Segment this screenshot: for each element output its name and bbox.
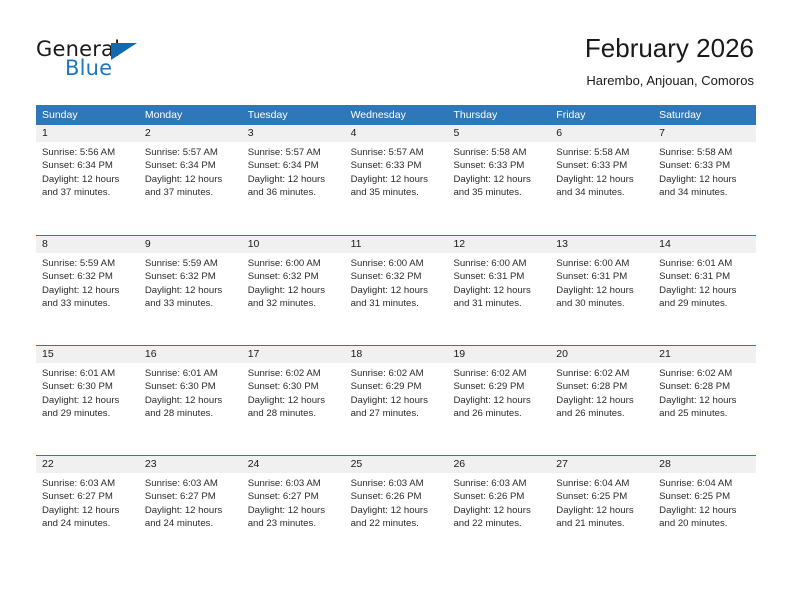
day-number: 15 [36,346,139,363]
week-row: 1 Sunrise: 5:56 AM Sunset: 6:34 PM Dayli… [36,125,756,235]
sunset-text: Sunset: 6:32 PM [351,270,442,283]
day-info: Sunrise: 6:04 AM Sunset: 6:25 PM Dayligh… [550,473,653,531]
day-number: 5 [447,125,550,142]
day-number: 2 [139,125,242,142]
sunrise-text: Sunrise: 6:02 AM [351,367,442,380]
day-number: 24 [242,456,345,473]
daylight-text: Daylight: 12 hours and 37 minutes. [42,173,133,200]
day-cell[interactable]: 3 Sunrise: 5:57 AM Sunset: 6:34 PM Dayli… [242,125,345,235]
day-info: Sunrise: 5:58 AM Sunset: 6:33 PM Dayligh… [653,142,756,200]
day-number: 22 [36,456,139,473]
day-info: Sunrise: 6:03 AM Sunset: 6:27 PM Dayligh… [139,473,242,531]
day-cell[interactable]: 7 Sunrise: 5:58 AM Sunset: 6:33 PM Dayli… [653,125,756,235]
sunrise-text: Sunrise: 6:04 AM [659,477,750,490]
week-row: 8 Sunrise: 5:59 AM Sunset: 6:32 PM Dayli… [36,235,756,345]
sunset-text: Sunset: 6:34 PM [145,159,236,172]
day-info: Sunrise: 6:02 AM Sunset: 6:28 PM Dayligh… [550,363,653,421]
daylight-text: Daylight: 12 hours and 24 minutes. [42,504,133,531]
sunrise-text: Sunrise: 6:02 AM [248,367,339,380]
weekday-header-monday: Monday [139,105,242,125]
day-number: 19 [447,346,550,363]
day-number: 18 [345,346,448,363]
day-info: Sunrise: 6:03 AM Sunset: 6:27 PM Dayligh… [242,473,345,531]
weekday-header-saturday: Saturday [653,105,756,125]
daylight-text: Daylight: 12 hours and 29 minutes. [42,394,133,421]
day-cell[interactable]: 6 Sunrise: 5:58 AM Sunset: 6:33 PM Dayli… [550,125,653,235]
sunrise-text: Sunrise: 6:02 AM [556,367,647,380]
daylight-text: Daylight: 12 hours and 36 minutes. [248,173,339,200]
sunset-text: Sunset: 6:33 PM [659,159,750,172]
day-number: 11 [345,236,448,253]
day-cell[interactable]: 5 Sunrise: 5:58 AM Sunset: 6:33 PM Dayli… [447,125,550,235]
sunrise-text: Sunrise: 6:02 AM [659,367,750,380]
day-cell[interactable]: 19 Sunrise: 6:02 AM Sunset: 6:29 PM Dayl… [447,346,550,455]
day-cell[interactable]: 23 Sunrise: 6:03 AM Sunset: 6:27 PM Dayl… [139,456,242,565]
day-info: Sunrise: 6:01 AM Sunset: 6:30 PM Dayligh… [139,363,242,421]
daylight-text: Daylight: 12 hours and 34 minutes. [556,173,647,200]
daylight-text: Daylight: 12 hours and 23 minutes. [248,504,339,531]
day-cell[interactable]: 13 Sunrise: 6:00 AM Sunset: 6:31 PM Dayl… [550,236,653,345]
day-cell[interactable]: 11 Sunrise: 6:00 AM Sunset: 6:32 PM Dayl… [345,236,448,345]
day-info: Sunrise: 6:00 AM Sunset: 6:31 PM Dayligh… [447,253,550,311]
day-info: Sunrise: 6:03 AM Sunset: 6:27 PM Dayligh… [36,473,139,531]
day-info: Sunrise: 5:57 AM Sunset: 6:33 PM Dayligh… [345,142,448,200]
sunrise-text: Sunrise: 6:00 AM [556,257,647,270]
daylight-text: Daylight: 12 hours and 33 minutes. [42,284,133,311]
sunset-text: Sunset: 6:31 PM [453,270,544,283]
day-info: Sunrise: 6:03 AM Sunset: 6:26 PM Dayligh… [345,473,448,531]
daylight-text: Daylight: 12 hours and 27 minutes. [351,394,442,421]
day-info: Sunrise: 6:01 AM Sunset: 6:30 PM Dayligh… [36,363,139,421]
day-info: Sunrise: 6:02 AM Sunset: 6:28 PM Dayligh… [653,363,756,421]
day-number: 3 [242,125,345,142]
day-info: Sunrise: 6:00 AM Sunset: 6:31 PM Dayligh… [550,253,653,311]
sunrise-text: Sunrise: 6:01 AM [659,257,750,270]
day-info: Sunrise: 5:59 AM Sunset: 6:32 PM Dayligh… [36,253,139,311]
sunset-text: Sunset: 6:32 PM [248,270,339,283]
day-cell[interactable]: 9 Sunrise: 5:59 AM Sunset: 6:32 PM Dayli… [139,236,242,345]
sunrise-text: Sunrise: 5:57 AM [248,146,339,159]
sunset-text: Sunset: 6:29 PM [453,380,544,393]
day-info: Sunrise: 6:00 AM Sunset: 6:32 PM Dayligh… [345,253,448,311]
page-header: General Blue February 2026 Harembo, Anjo… [0,0,792,104]
daylight-text: Daylight: 12 hours and 22 minutes. [351,504,442,531]
sunset-text: Sunset: 6:27 PM [145,490,236,503]
sunrise-text: Sunrise: 6:03 AM [351,477,442,490]
sunrise-text: Sunrise: 6:01 AM [145,367,236,380]
day-cell[interactable]: 27 Sunrise: 6:04 AM Sunset: 6:25 PM Dayl… [550,456,653,565]
day-number: 4 [345,125,448,142]
week-row: 15 Sunrise: 6:01 AM Sunset: 6:30 PM Dayl… [36,345,756,455]
daylight-text: Daylight: 12 hours and 26 minutes. [556,394,647,421]
brand-triangle-icon [111,43,137,60]
sunset-text: Sunset: 6:32 PM [42,270,133,283]
sunset-text: Sunset: 6:33 PM [556,159,647,172]
day-number: 28 [653,456,756,473]
day-info: Sunrise: 6:01 AM Sunset: 6:31 PM Dayligh… [653,253,756,311]
day-info: Sunrise: 6:04 AM Sunset: 6:25 PM Dayligh… [653,473,756,531]
sunrise-text: Sunrise: 6:02 AM [453,367,544,380]
sunset-text: Sunset: 6:25 PM [556,490,647,503]
day-number: 12 [447,236,550,253]
day-number: 1 [36,125,139,142]
weekday-header-tuesday: Tuesday [242,105,345,125]
sunset-text: Sunset: 6:34 PM [248,159,339,172]
daylight-text: Daylight: 12 hours and 35 minutes. [453,173,544,200]
day-number: 27 [550,456,653,473]
day-info: Sunrise: 5:57 AM Sunset: 6:34 PM Dayligh… [242,142,345,200]
daylight-text: Daylight: 12 hours and 24 minutes. [145,504,236,531]
sunrise-text: Sunrise: 5:57 AM [145,146,236,159]
daylight-text: Daylight: 12 hours and 35 minutes. [351,173,442,200]
daylight-text: Daylight: 12 hours and 20 minutes. [659,504,750,531]
sunrise-text: Sunrise: 5:58 AM [556,146,647,159]
day-cell[interactable]: 20 Sunrise: 6:02 AM Sunset: 6:28 PM Dayl… [550,346,653,455]
day-cell[interactable]: 10 Sunrise: 6:00 AM Sunset: 6:32 PM Dayl… [242,236,345,345]
sunrise-text: Sunrise: 5:58 AM [659,146,750,159]
day-cell[interactable]: 17 Sunrise: 6:02 AM Sunset: 6:30 PM Dayl… [242,346,345,455]
day-cell[interactable]: 4 Sunrise: 5:57 AM Sunset: 6:33 PM Dayli… [345,125,448,235]
day-info: Sunrise: 5:57 AM Sunset: 6:34 PM Dayligh… [139,142,242,200]
day-cell[interactable]: 14 Sunrise: 6:01 AM Sunset: 6:31 PM Dayl… [653,236,756,345]
sunrise-text: Sunrise: 5:56 AM [42,146,133,159]
daylight-text: Daylight: 12 hours and 28 minutes. [145,394,236,421]
weekday-header-friday: Friday [550,105,653,125]
sunrise-text: Sunrise: 5:58 AM [453,146,544,159]
sunrise-text: Sunrise: 6:03 AM [42,477,133,490]
day-cell[interactable]: 16 Sunrise: 6:01 AM Sunset: 6:30 PM Dayl… [139,346,242,455]
sunrise-text: Sunrise: 6:00 AM [453,257,544,270]
weekday-header-sunday: Sunday [36,105,139,125]
day-cell[interactable]: 25 Sunrise: 6:03 AM Sunset: 6:26 PM Dayl… [345,456,448,565]
day-number: 17 [242,346,345,363]
sunrise-text: Sunrise: 6:03 AM [145,477,236,490]
day-cell[interactable]: 24 Sunrise: 6:03 AM Sunset: 6:27 PM Dayl… [242,456,345,565]
day-number: 16 [139,346,242,363]
day-cell[interactable]: 8 Sunrise: 5:59 AM Sunset: 6:32 PM Dayli… [36,236,139,345]
day-number: 23 [139,456,242,473]
day-number: 13 [550,236,653,253]
sunset-text: Sunset: 6:26 PM [453,490,544,503]
day-number: 21 [653,346,756,363]
title-block: February 2026 Harembo, Anjouan, Comoros [585,32,754,90]
sunset-text: Sunset: 6:30 PM [248,380,339,393]
day-cell[interactable]: 22 Sunrise: 6:03 AM Sunset: 6:27 PM Dayl… [36,456,139,565]
sunrise-text: Sunrise: 6:00 AM [248,257,339,270]
sunset-text: Sunset: 6:29 PM [351,380,442,393]
page-title: February 2026 [585,32,754,64]
day-cell[interactable]: 1 Sunrise: 5:56 AM Sunset: 6:34 PM Dayli… [36,125,139,235]
sunset-text: Sunset: 6:33 PM [453,159,544,172]
daylight-text: Daylight: 12 hours and 28 minutes. [248,394,339,421]
daylight-text: Daylight: 12 hours and 21 minutes. [556,504,647,531]
day-info: Sunrise: 6:02 AM Sunset: 6:29 PM Dayligh… [447,363,550,421]
sunset-text: Sunset: 6:32 PM [145,270,236,283]
sunset-text: Sunset: 6:27 PM [42,490,133,503]
daylight-text: Daylight: 12 hours and 32 minutes. [248,284,339,311]
sunset-text: Sunset: 6:33 PM [351,159,442,172]
day-cell[interactable]: 18 Sunrise: 6:02 AM Sunset: 6:29 PM Dayl… [345,346,448,455]
day-number: 26 [447,456,550,473]
daylight-text: Daylight: 12 hours and 34 minutes. [659,173,750,200]
brand-name-blue: Blue [65,57,112,79]
day-number: 20 [550,346,653,363]
sunset-text: Sunset: 6:31 PM [556,270,647,283]
day-number: 9 [139,236,242,253]
sunrise-text: Sunrise: 6:03 AM [248,477,339,490]
sunset-text: Sunset: 6:34 PM [42,159,133,172]
sunset-text: Sunset: 6:28 PM [556,380,647,393]
day-number: 10 [242,236,345,253]
daylight-text: Daylight: 12 hours and 31 minutes. [453,284,544,311]
sunset-text: Sunset: 6:25 PM [659,490,750,503]
day-number: 6 [550,125,653,142]
weekday-header-wednesday: Wednesday [345,105,448,125]
day-cell[interactable]: 2 Sunrise: 5:57 AM Sunset: 6:34 PM Dayli… [139,125,242,235]
sunset-text: Sunset: 6:26 PM [351,490,442,503]
sunrise-text: Sunrise: 5:57 AM [351,146,442,159]
day-info: Sunrise: 6:00 AM Sunset: 6:32 PM Dayligh… [242,253,345,311]
day-info: Sunrise: 6:03 AM Sunset: 6:26 PM Dayligh… [447,473,550,531]
sunrise-text: Sunrise: 6:03 AM [453,477,544,490]
sunset-text: Sunset: 6:30 PM [145,380,236,393]
day-info: Sunrise: 6:02 AM Sunset: 6:30 PM Dayligh… [242,363,345,421]
day-number: 25 [345,456,448,473]
sunset-text: Sunset: 6:31 PM [659,270,750,283]
daylight-text: Daylight: 12 hours and 26 minutes. [453,394,544,421]
sunrise-text: Sunrise: 6:00 AM [351,257,442,270]
day-cell[interactable]: 21 Sunrise: 6:02 AM Sunset: 6:28 PM Dayl… [653,346,756,455]
day-cell[interactable]: 15 Sunrise: 6:01 AM Sunset: 6:30 PM Dayl… [36,346,139,455]
sunrise-text: Sunrise: 5:59 AM [42,257,133,270]
day-info: Sunrise: 5:56 AM Sunset: 6:34 PM Dayligh… [36,142,139,200]
week-row: 22 Sunrise: 6:03 AM Sunset: 6:27 PM Dayl… [36,455,756,565]
day-cell[interactable]: 26 Sunrise: 6:03 AM Sunset: 6:26 PM Dayl… [447,456,550,565]
calendar-grid: Sunday Monday Tuesday Wednesday Thursday… [36,105,756,565]
page-subtitle-location: Harembo, Anjouan, Comoros [585,72,754,90]
sunrise-text: Sunrise: 6:01 AM [42,367,133,380]
sunset-text: Sunset: 6:27 PM [248,490,339,503]
daylight-text: Daylight: 12 hours and 29 minutes. [659,284,750,311]
general-blue-logo[interactable]: General Blue [36,38,236,86]
daylight-text: Daylight: 12 hours and 31 minutes. [351,284,442,311]
day-number: 14 [653,236,756,253]
sunrise-text: Sunrise: 5:59 AM [145,257,236,270]
day-cell[interactable]: 12 Sunrise: 6:00 AM Sunset: 6:31 PM Dayl… [447,236,550,345]
daylight-text: Daylight: 12 hours and 33 minutes. [145,284,236,311]
sunset-text: Sunset: 6:30 PM [42,380,133,393]
sunset-text: Sunset: 6:28 PM [659,380,750,393]
day-info: Sunrise: 6:02 AM Sunset: 6:29 PM Dayligh… [345,363,448,421]
daylight-text: Daylight: 12 hours and 37 minutes. [145,173,236,200]
day-info: Sunrise: 5:58 AM Sunset: 6:33 PM Dayligh… [447,142,550,200]
weekday-header-thursday: Thursday [447,105,550,125]
weekday-header-row: Sunday Monday Tuesday Wednesday Thursday… [36,105,756,125]
day-number: 7 [653,125,756,142]
daylight-text: Daylight: 12 hours and 30 minutes. [556,284,647,311]
sunrise-text: Sunrise: 6:04 AM [556,477,647,490]
daylight-text: Daylight: 12 hours and 22 minutes. [453,504,544,531]
day-info: Sunrise: 5:59 AM Sunset: 6:32 PM Dayligh… [139,253,242,311]
daylight-text: Daylight: 12 hours and 25 minutes. [659,394,750,421]
day-cell[interactable]: 28 Sunrise: 6:04 AM Sunset: 6:25 PM Dayl… [653,456,756,565]
day-number: 8 [36,236,139,253]
day-info: Sunrise: 5:58 AM Sunset: 6:33 PM Dayligh… [550,142,653,200]
